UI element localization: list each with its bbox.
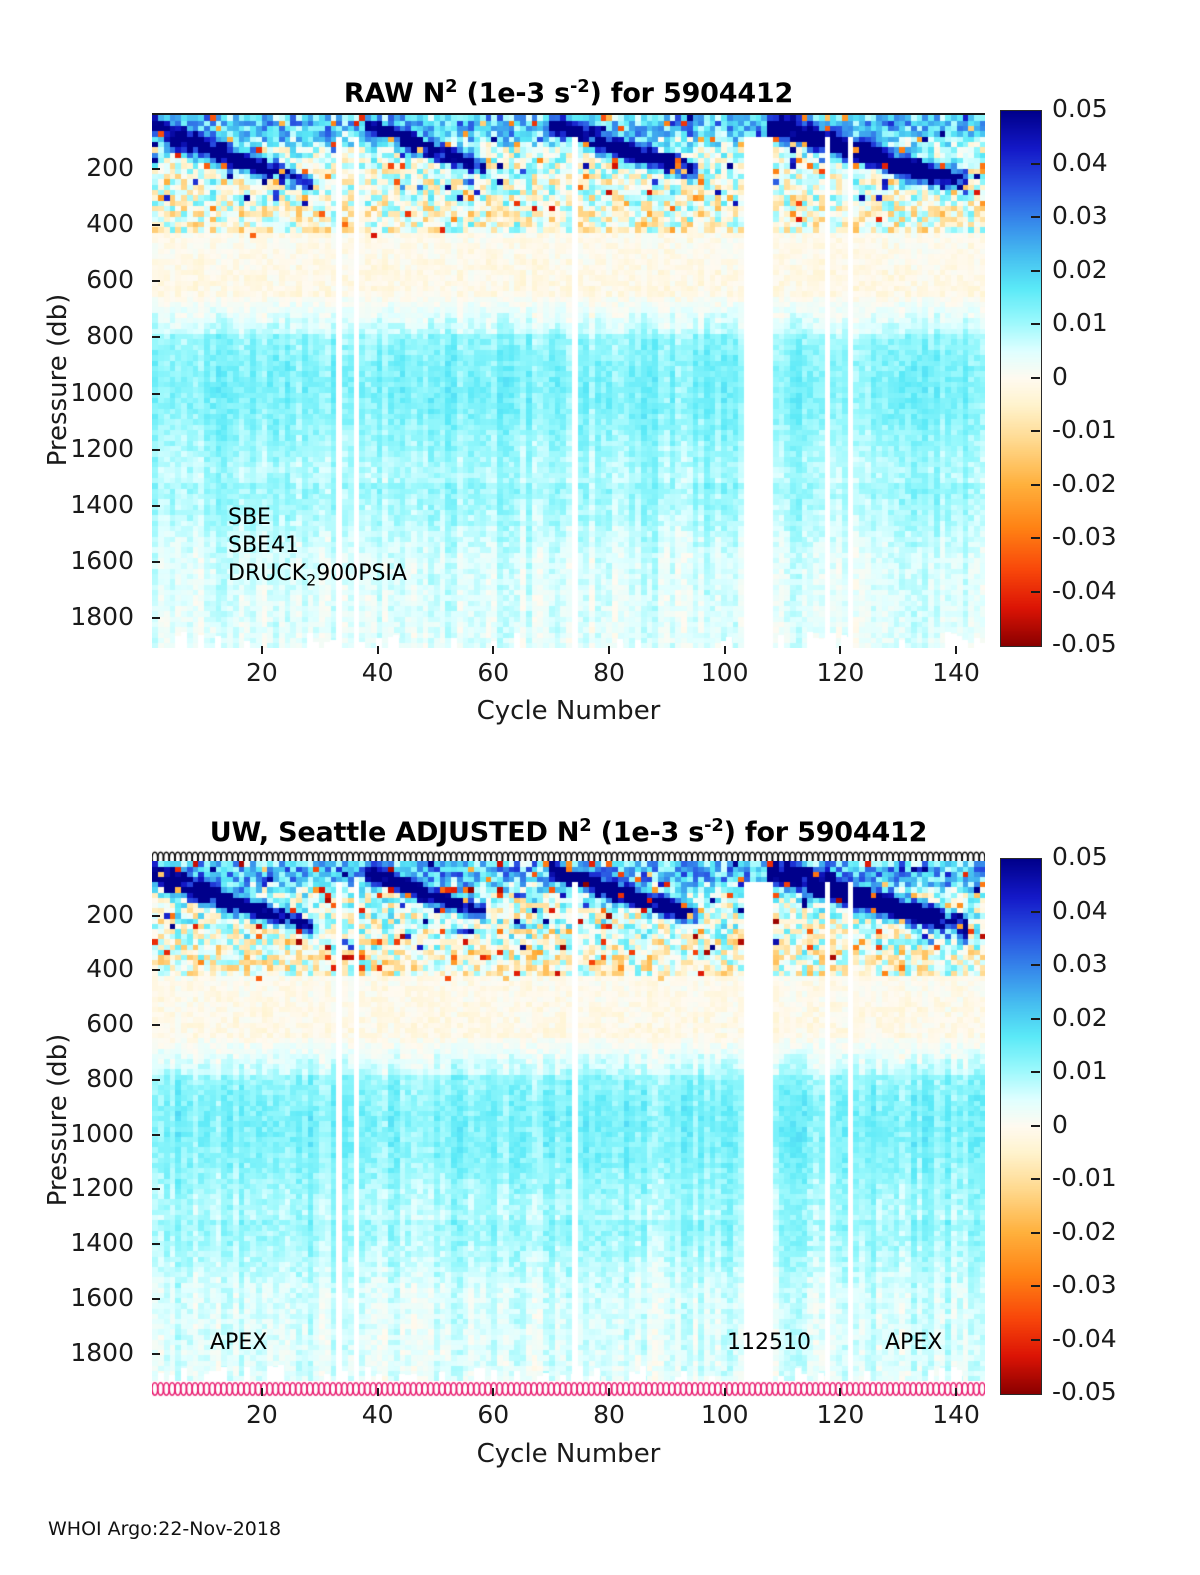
y-axis-tick-label: 600 [4, 265, 134, 294]
colorbar-tick-label: -0.03 [1052, 1270, 1117, 1299]
x-axis-tickmark [608, 1388, 610, 1396]
x-axis-tickmark [377, 1388, 379, 1396]
x-axis-tickmark [839, 646, 841, 654]
y-axis-tick-label: 200 [4, 900, 134, 929]
y-axis-tickmark [152, 393, 160, 395]
y-axis-tick-label: 1200 [4, 1173, 134, 1202]
y-axis-tick-label: 1000 [4, 1119, 134, 1148]
title-sup-s2-adjusted: -2 [704, 815, 723, 836]
y-axis-tickmark [152, 1079, 160, 1081]
colorbar-tickmark [1031, 377, 1040, 379]
colorbar-tick-label: -0.01 [1052, 415, 1117, 444]
y-axis-tick-label: 1600 [4, 1283, 134, 1312]
x-axis-tickmark [839, 1388, 841, 1396]
y-axis-tickmark [152, 617, 160, 619]
x-axis-tick-label: 20 [217, 658, 307, 687]
x-axis-tick-label: 80 [564, 1400, 654, 1429]
colorbar-tickmark [1031, 1285, 1040, 1287]
colorbar-tick-label: -0.02 [1052, 1217, 1117, 1246]
y-axis-tickmark [152, 561, 160, 563]
colorbar-tick-label: 0.04 [1052, 148, 1108, 177]
plot-title-raw: RAW N2 (1e-3 s-2) for 5904412 [152, 76, 985, 109]
y-axis-tickmark [152, 1353, 160, 1355]
colorbar-tick-label: 0.02 [1052, 1003, 1108, 1032]
x-axis-tick-label: 120 [795, 658, 885, 687]
y-axis-tick-label: 1400 [4, 1228, 134, 1257]
title-text-raw: RAW N [344, 78, 445, 109]
colorbar-tickmark [1031, 216, 1040, 218]
colorbar-tick-label: -0.05 [1052, 1377, 1117, 1406]
colorbar-raw [1000, 110, 1042, 647]
y-axis-tick-label: 1800 [4, 602, 134, 631]
y-axis-tickmark [152, 1024, 160, 1026]
x-axis-tick-label: 60 [448, 658, 538, 687]
colorbar-tickmark [1031, 1339, 1040, 1341]
y-axis-tickmark [152, 168, 160, 170]
x-axis-tickmark [608, 646, 610, 654]
annotation-float-serial: 112510 [727, 1330, 811, 1355]
title-text-adjusted: UW, Seattle ADJUSTED N [210, 817, 580, 848]
y-axis-tickmark [152, 915, 160, 917]
x-axis-tickmark [724, 646, 726, 654]
colorbar-tickmark [1031, 1071, 1040, 1073]
x-axis-tick-label: 40 [333, 658, 423, 687]
x-axis-tickmark [261, 646, 263, 654]
colorbar-tick-label: -0.04 [1052, 1324, 1117, 1353]
title-sup-n2-adjusted: 2 [579, 815, 591, 836]
colorbar-tick-label: -0.03 [1052, 522, 1117, 551]
y-axis-tickmark [152, 336, 160, 338]
colorbar-adjusted [1000, 858, 1042, 1395]
colorbar-tickmark [1031, 1125, 1040, 1127]
colorbar-tickmark [1031, 1018, 1040, 1020]
bottom-marker-row-adjusted [152, 1380, 985, 1398]
y-axis-tick-label: 200 [4, 153, 134, 182]
y-axis-tick-label: 1400 [4, 490, 134, 519]
heatmap-adjusted [152, 861, 985, 1381]
colorbar-tickmark [1031, 270, 1040, 272]
x-axis-tick-label: 40 [333, 1400, 423, 1429]
y-axis-tick-label: 400 [4, 954, 134, 983]
colorbar-tickmark [1031, 591, 1040, 593]
colorbar-tickmark [1031, 323, 1040, 325]
x-axis-tick-label: 120 [795, 1400, 885, 1429]
x-axis-tick-label: 20 [217, 1400, 307, 1429]
annotation-sensor-model: SBE41 [228, 533, 299, 558]
x-axis-tick-label: 140 [911, 1400, 1001, 1429]
y-axis-tickmark [152, 449, 160, 451]
y-axis-tick-label: 1200 [4, 434, 134, 463]
title-sup-n2-raw: 2 [445, 76, 457, 97]
y-axis-tickmark [152, 1134, 160, 1136]
colorbar-tick-label: -0.04 [1052, 576, 1117, 605]
colorbar-tickmark [1031, 484, 1040, 486]
x-axis-tickmark [492, 1388, 494, 1396]
colorbar-tickmark [1031, 1232, 1040, 1234]
colorbar-tickmark [1031, 964, 1040, 966]
colorbar-tick-label: -0.01 [1052, 1163, 1117, 1192]
colorbar-tick-label: 0.05 [1052, 94, 1108, 123]
y-axis-tick-label: 800 [4, 1064, 134, 1093]
x-axis-tick-label: 100 [680, 658, 770, 687]
y-axis-tickmark [152, 1243, 160, 1245]
colorbar-tickmark [1031, 537, 1040, 539]
y-axis-tickmark [152, 280, 160, 282]
colorbar-tick-label: 0.01 [1052, 308, 1108, 337]
x-axis-tick-label: 80 [564, 658, 654, 687]
plot-title-adjusted: UW, Seattle ADJUSTED N2 (1e-3 s-2) for 5… [152, 815, 985, 848]
y-axis-tickmark [152, 224, 160, 226]
x-axis-tickmark [492, 646, 494, 654]
footer-credit: WHOI Argo:22-Nov-2018 [48, 1518, 281, 1540]
colorbar-tick-label: 0.03 [1052, 201, 1108, 230]
y-axis-tick-label: 600 [4, 1009, 134, 1038]
x-axis-label-adjusted: Cycle Number [152, 1439, 985, 1469]
title-post-adjusted: ) for 5904412 [724, 817, 928, 848]
x-axis-tick-label: 100 [680, 1400, 770, 1429]
y-axis-tick-label: 400 [4, 209, 134, 238]
x-axis-tick-label: 60 [448, 1400, 538, 1429]
x-axis-tickmark [724, 1388, 726, 1396]
title-sup-s2-raw: -2 [570, 76, 589, 97]
x-axis-tickmark [377, 646, 379, 654]
x-axis-tickmark [261, 1388, 263, 1396]
annotation-sensor-maker: SBE [228, 505, 271, 530]
y-axis-tick-label: 800 [4, 321, 134, 350]
colorbar-tickmark [1031, 430, 1040, 432]
pressure-sensor-post: 900PSIA [316, 561, 407, 586]
pressure-sensor-pre: DRUCK [228, 561, 306, 586]
colorbar-tick-label: -0.05 [1052, 629, 1117, 658]
colorbar-tickmark [1031, 911, 1040, 913]
x-axis-tickmark [955, 646, 957, 654]
colorbar-tick-label: 0.01 [1052, 1056, 1108, 1085]
title-mid-raw: (1e-3 s [457, 78, 570, 109]
colorbar-tick-label: -0.02 [1052, 469, 1117, 498]
annotation-float-type-right: APEX [885, 1330, 942, 1355]
colorbar-tick-label: 0.04 [1052, 896, 1108, 925]
x-axis-label-raw: Cycle Number [152, 696, 985, 726]
y-axis-tick-label: 1000 [4, 378, 134, 407]
x-axis-tickmark [955, 1388, 957, 1396]
colorbar-tick-label: 0.05 [1052, 842, 1108, 871]
annotation-float-type-left: APEX [210, 1330, 267, 1355]
colorbar-tick-label: 0 [1052, 1110, 1068, 1139]
y-axis-tickmark [152, 505, 160, 507]
title-post-raw: ) for 5904412 [589, 78, 793, 109]
colorbar-tick-label: 0 [1052, 362, 1068, 391]
y-axis-tick-label: 1600 [4, 546, 134, 575]
y-axis-tickmark [152, 1188, 160, 1190]
colorbar-tickmark [1031, 163, 1040, 165]
colorbar-tick-label: 0.03 [1052, 949, 1108, 978]
annotation-pressure-sensor: DRUCK2900PSIA [228, 561, 407, 589]
colorbar-tickmark [1031, 1178, 1040, 1180]
title-mid-adjusted: (1e-3 s [591, 817, 704, 848]
colorbar-tick-label: 0.02 [1052, 255, 1108, 284]
y-axis-tickmark [152, 969, 160, 971]
y-axis-tickmark [152, 1298, 160, 1300]
x-axis-tick-label: 140 [911, 658, 1001, 687]
pressure-sensor-sub: 2 [306, 570, 316, 589]
y-axis-tick-label: 1800 [4, 1338, 134, 1367]
